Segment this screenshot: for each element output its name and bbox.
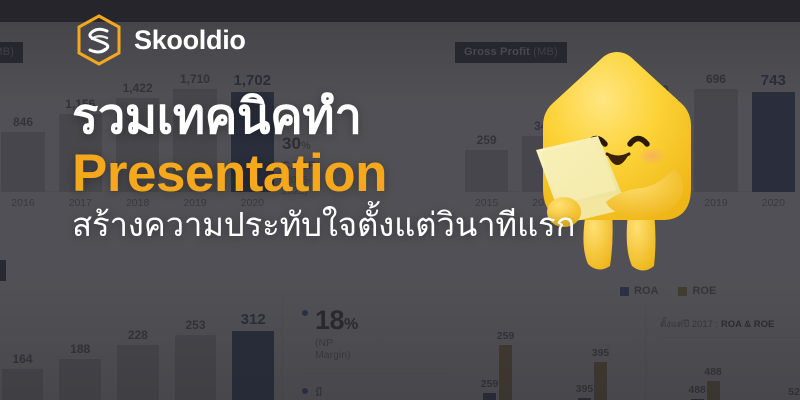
brand-wordmark: Skooldio	[134, 25, 246, 56]
headline-line-3: สร้างความประทับใจตั้งแต่วินาทีแรก	[72, 207, 732, 244]
headline-line-1: รวมเทคนิคทำ	[72, 92, 732, 144]
skooldio-hexagon-logo-icon	[76, 14, 122, 66]
headline-block: รวมเทคนิคทำ Presentation สร้างความประทับ…	[72, 92, 732, 244]
slide-thumbnail: Revenue (MB) 457 2015 846 2016	[0, 0, 800, 400]
headline-line-2: Presentation	[72, 146, 732, 201]
brand-logo: Skooldio	[76, 14, 246, 66]
